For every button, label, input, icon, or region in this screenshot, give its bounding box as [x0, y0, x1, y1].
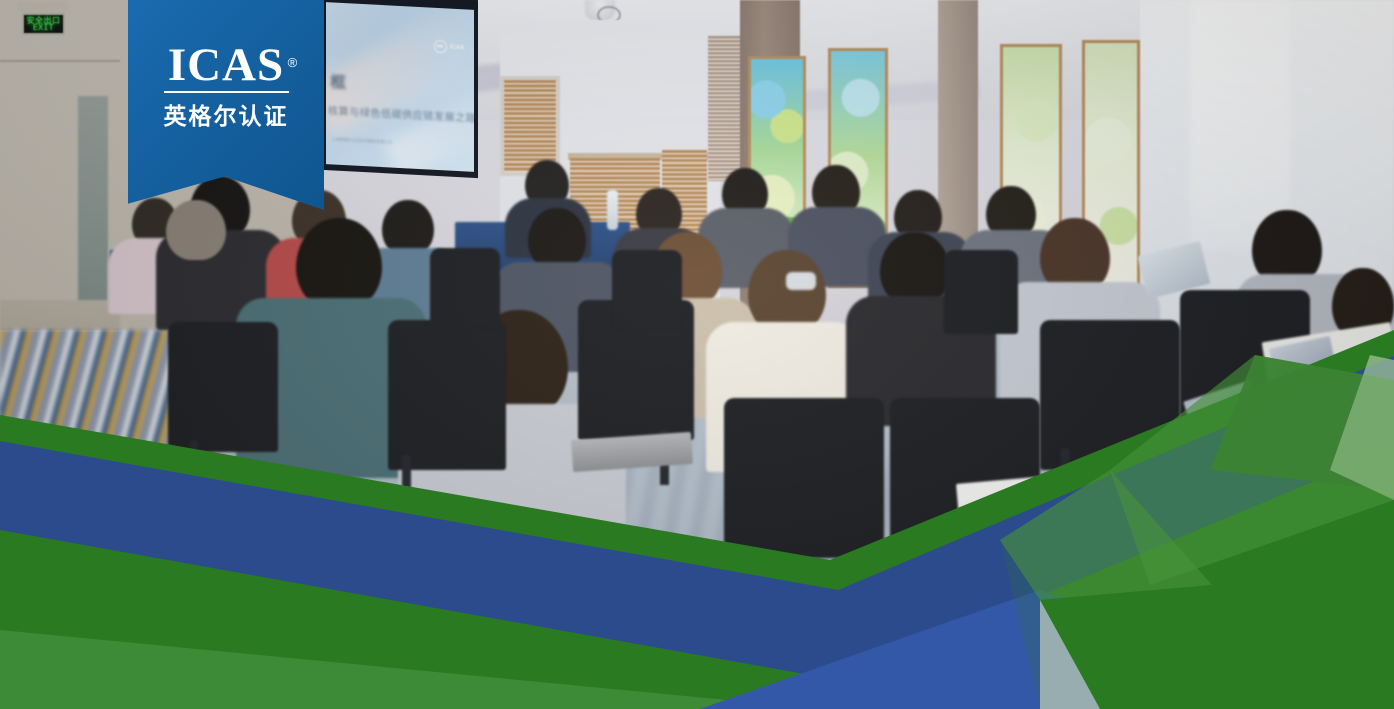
attendee-head: [166, 200, 226, 260]
hair-clip-accessory: [786, 272, 816, 290]
brand-chinese-name: 英格尔认证: [164, 97, 289, 131]
projection-screen: ICAS 框 核算与绿色低碳供应链发展之路 上海英格尔认证技术服务有限公司: [326, 2, 474, 172]
slide-logo: ICAS: [434, 40, 464, 55]
chair-back: [612, 250, 682, 330]
attendee-head: [880, 232, 950, 306]
chair-back: [430, 248, 500, 328]
small-window-blind: [504, 80, 556, 172]
brand-wordmark-text: ICAS: [168, 39, 284, 91]
chair-back: [944, 250, 1018, 334]
attendee-head: [296, 218, 382, 310]
brand-divider: [164, 91, 289, 93]
slide-title: 框: [330, 68, 347, 93]
exit-sign-mount: [18, 2, 68, 12]
wall-seam: [0, 60, 120, 62]
chair-leg: [402, 455, 411, 515]
registered-trademark-icon: ®: [288, 40, 299, 86]
water-bottle: [607, 190, 618, 230]
chair-back: [168, 322, 278, 452]
chair-back: [388, 320, 506, 470]
slide-logo-text: ICAS: [450, 44, 464, 51]
attendee-head: [528, 208, 586, 270]
brand-wordmark: ICAS®: [168, 42, 284, 88]
chair-leg: [190, 440, 198, 500]
chair-back: [724, 398, 884, 558]
slide-logo-ring-icon: [434, 40, 447, 54]
exit-sign: 安全出口 EXIT: [22, 13, 65, 35]
slide-footnote: 上海英格尔认证技术服务有限公司: [332, 136, 392, 145]
banner-image: 安全出口 EXIT ICAS 框 核算与绿色低碳供应链发展之路 上海英格尔认证技…: [0, 0, 1394, 709]
exit-sign-label: 安全出口 EXIT: [24, 17, 63, 31]
